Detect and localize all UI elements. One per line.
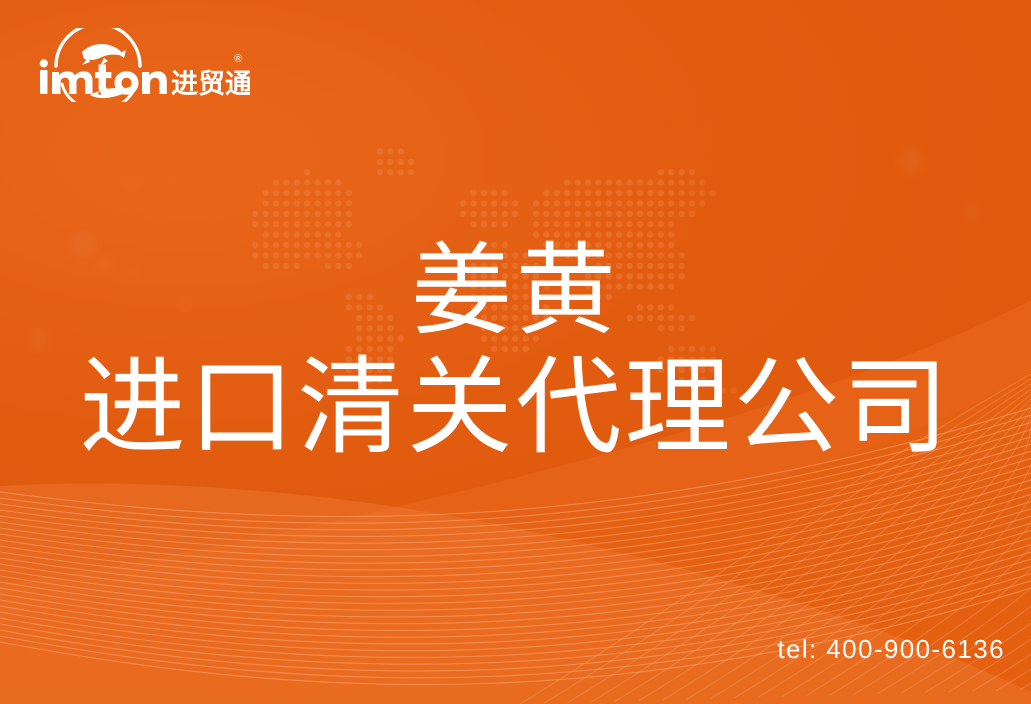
logo-mark: 进贸通 ® [38, 28, 250, 102]
telephone-number: tel: 400-900-6136 [777, 634, 1005, 665]
promo-banner: 进贸通 ® 姜黄 进口清关代理公司 tel: 400-900-6136 [0, 0, 1031, 704]
brand-logo[interactable]: 进贸通 ® [38, 28, 250, 102]
logo-chinese-text: 进贸通 [171, 69, 250, 100]
trademark-symbol: ® [234, 53, 242, 65]
background-fill [0, 0, 1031, 704]
